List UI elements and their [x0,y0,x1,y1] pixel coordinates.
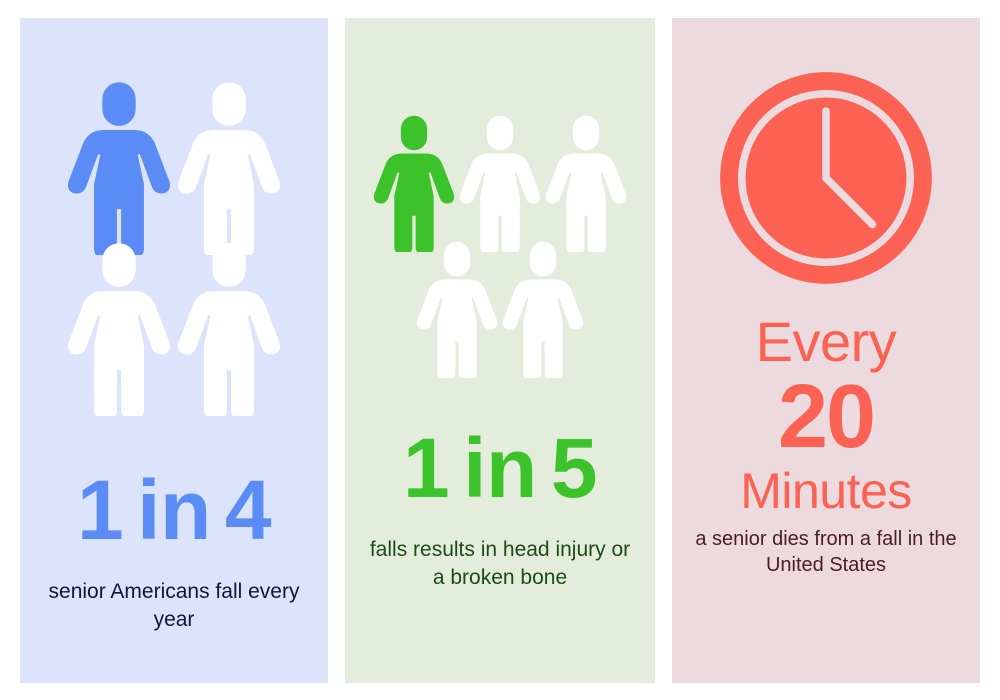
headline-denominator: 4 [225,463,271,557]
pictogram-falls [20,18,328,416]
headline-connector: in [463,421,537,515]
person-icon [502,240,584,378]
pictogram-row [416,240,584,378]
headline-deaths: Every 20 Minutes [740,314,912,516]
clock-icon [718,70,934,286]
clock-wrapper [718,18,934,286]
person-icon [545,114,627,252]
headline-injury: 1in5 [403,426,597,510]
person-icon [373,114,455,252]
stat-panel-falls: 1in4 senior Americans fall every year [20,18,328,683]
headline-number: 20 [740,372,912,462]
stat-panel-injury: 1in5 falls results in head injury or a b… [345,18,655,683]
headline-unit: Minutes [740,466,912,516]
headline-lead: Every [740,314,912,370]
person-icon [67,241,171,416]
headline-denominator: 5 [551,421,597,515]
pictogram-row [373,114,627,252]
stat-panel-deaths: Every 20 Minutes a senior dies from a fa… [672,18,980,683]
pictogram-row [67,241,281,416]
pictogram-row [67,80,281,255]
headline-connector: in [137,463,211,557]
person-icon [67,80,171,255]
headline-falls: 1in4 [77,468,271,552]
headline-numerator: 1 [403,421,449,515]
infographic-canvas: 1in4 senior Americans fall every year [0,0,1000,700]
headline-numerator: 1 [77,463,123,557]
person-icon [416,240,498,378]
caption-injury: falls results in head injury or a broken… [347,536,653,591]
pictogram-injury [345,18,655,378]
person-icon [177,241,281,416]
person-icon [459,114,541,252]
caption-deaths: a senior dies from a fall in the United … [673,526,979,579]
person-icon [177,80,281,255]
caption-falls: senior Americans fall every year [21,578,327,633]
